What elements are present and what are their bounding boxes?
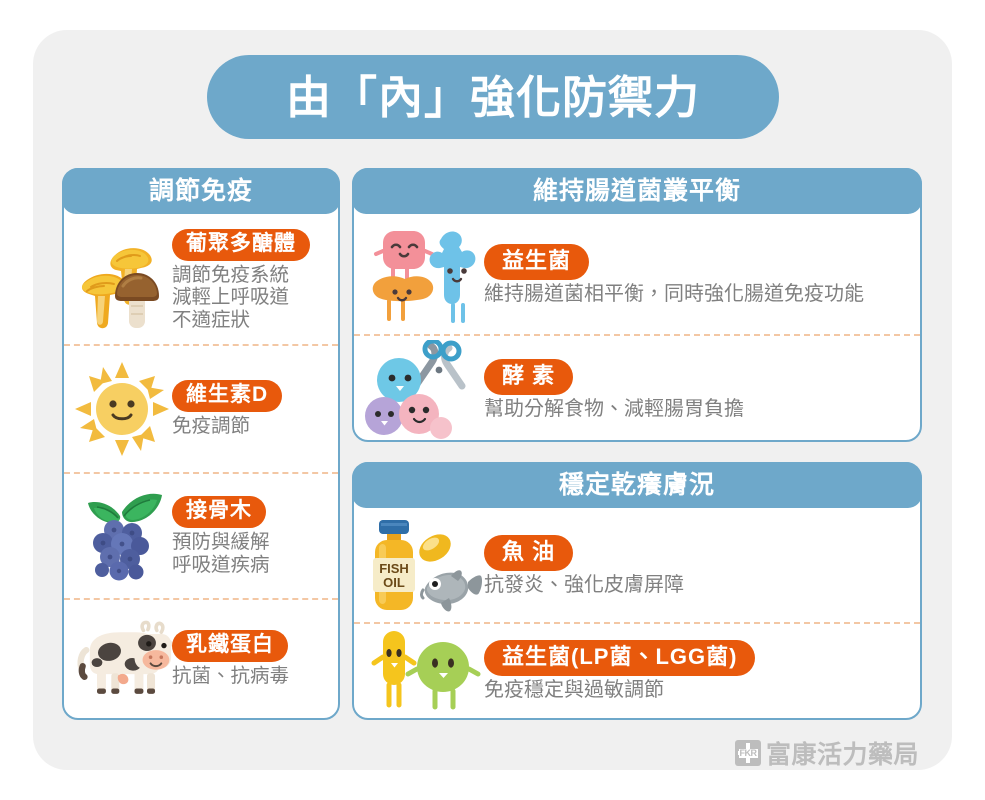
supplement-pill: 維生素D <box>172 380 282 412</box>
list-item-text: 酵 素 幫助分解食物、減輕腸胃負擔 <box>484 359 906 420</box>
list-item: 乳鐵蛋白 抗菌、抗病毒 <box>64 600 338 718</box>
list-item: 接骨木 預防與緩解 呼吸道疾病 <box>64 474 338 598</box>
skin-stability-header-label: 穩定乾癢膚況 <box>559 473 715 498</box>
page-title: 由「內」強化防禦力 <box>286 75 700 120</box>
skin-stability-card: 穩定乾癢膚況 FISH <box>352 462 922 720</box>
gut-balance-header: 維持腸道菌叢平衡 <box>352 168 922 214</box>
bottle-label-line1: FISH <box>379 561 409 576</box>
supplement-pill: 益生菌(LP菌、LGG菌) <box>484 640 755 675</box>
immune-regulation-card: 調節免疫 <box>62 168 340 720</box>
enzyme-scissors-icon <box>364 340 484 440</box>
supplement-pill: 益生菌 <box>484 244 589 279</box>
list-item: 酵 素 幫助分解食物、減輕腸胃負擔 <box>354 336 920 444</box>
pharmacy-cross-logo-icon: FKR <box>735 740 761 766</box>
immune-regulation-header-label: 調節免疫 <box>149 179 253 204</box>
gut-balance-card: 維持腸道菌叢平衡 <box>352 168 922 442</box>
list-item: 益生菌(LP菌、LGG菌) 免疫穩定與過敏調節 <box>354 624 920 718</box>
fish-oil-bottle-icon: FISH OIL <box>364 514 484 618</box>
list-item: FISH OIL <box>354 510 920 622</box>
infographic-root: 由「內」強化防禦力 調節免疫 <box>0 0 985 800</box>
immune-regulation-body: 葡聚多醣體 調節免疫系統 減輕上呼吸道 不適症狀 <box>64 170 338 718</box>
logo-mark-text: FKR <box>739 749 758 758</box>
right-column: 維持腸道菌叢平衡 <box>352 168 922 720</box>
supplement-description: 免疫穩定與過敏調節 <box>484 679 906 702</box>
gut-balance-header-label: 維持腸道菌叢平衡 <box>533 179 741 204</box>
mushrooms-icon <box>72 228 172 332</box>
list-item-text: 魚 油 抗發炎、強化皮膚屏障 <box>484 535 906 596</box>
supplement-description: 預防與緩解 呼吸道疾病 <box>172 531 328 576</box>
list-item-text: 乳鐵蛋白 抗菌、抗病毒 <box>172 630 328 688</box>
list-item-text: 益生菌(LP菌、LGG菌) 免疫穩定與過敏調節 <box>484 640 906 701</box>
probiotic-pair-icon <box>364 625 484 717</box>
list-item-text: 益生菌 維持腸道菌相平衡，同時強化腸道免疫功能 <box>484 244 906 305</box>
footer-branding: FKR 富康活力藥局 <box>735 735 919 771</box>
supplement-pill: 葡聚多醣體 <box>172 229 310 261</box>
main-title-banner: 由「內」強化防禦力 <box>207 55 779 139</box>
pharmacy-brand-name: 富康活力藥局 <box>766 735 919 771</box>
supplement-description: 抗發炎、強化皮膚屏障 <box>484 574 906 597</box>
list-item: 維生素D 免疫調節 <box>64 346 338 472</box>
supplement-description: 幫助分解食物、減輕腸胃負擔 <box>484 398 906 421</box>
supplement-description: 調節免疫系統 減輕上呼吸道 不適症狀 <box>172 264 328 332</box>
supplement-description: 免疫調節 <box>172 415 328 438</box>
skin-stability-header: 穩定乾癢膚況 <box>352 462 922 508</box>
supplement-pill: 酵 素 <box>484 359 573 394</box>
list-item-text: 接骨木 預防與緩解 呼吸道疾病 <box>172 496 328 576</box>
supplement-description: 維持腸道菌相平衡，同時強化腸道免疫功能 <box>484 283 906 306</box>
list-item-text: 葡聚多醣體 調節免疫系統 減輕上呼吸道 不適症狀 <box>172 229 328 332</box>
left-column: 調節免疫 <box>62 168 340 720</box>
supplement-pill: 接骨木 <box>172 496 266 528</box>
bottle-label-line2: OIL <box>383 575 405 590</box>
list-item: 葡聚多醣體 調節免疫系統 減輕上呼吸道 不適症狀 <box>64 216 338 344</box>
supplement-pill: 乳鐵蛋白 <box>172 630 288 662</box>
supplement-description: 抗菌、抗病毒 <box>172 665 328 688</box>
list-item: 益生菌 維持腸道菌相平衡，同時強化腸道免疫功能 <box>354 216 920 334</box>
list-item-text: 維生素D 免疫調節 <box>172 380 328 438</box>
supplement-pill: 魚 油 <box>484 535 573 570</box>
sun-icon <box>72 361 172 457</box>
elderberry-icon <box>72 486 172 586</box>
immune-regulation-header: 調節免疫 <box>62 168 340 214</box>
probiotic-characters-icon <box>364 221 484 329</box>
cow-icon <box>72 613 172 705</box>
